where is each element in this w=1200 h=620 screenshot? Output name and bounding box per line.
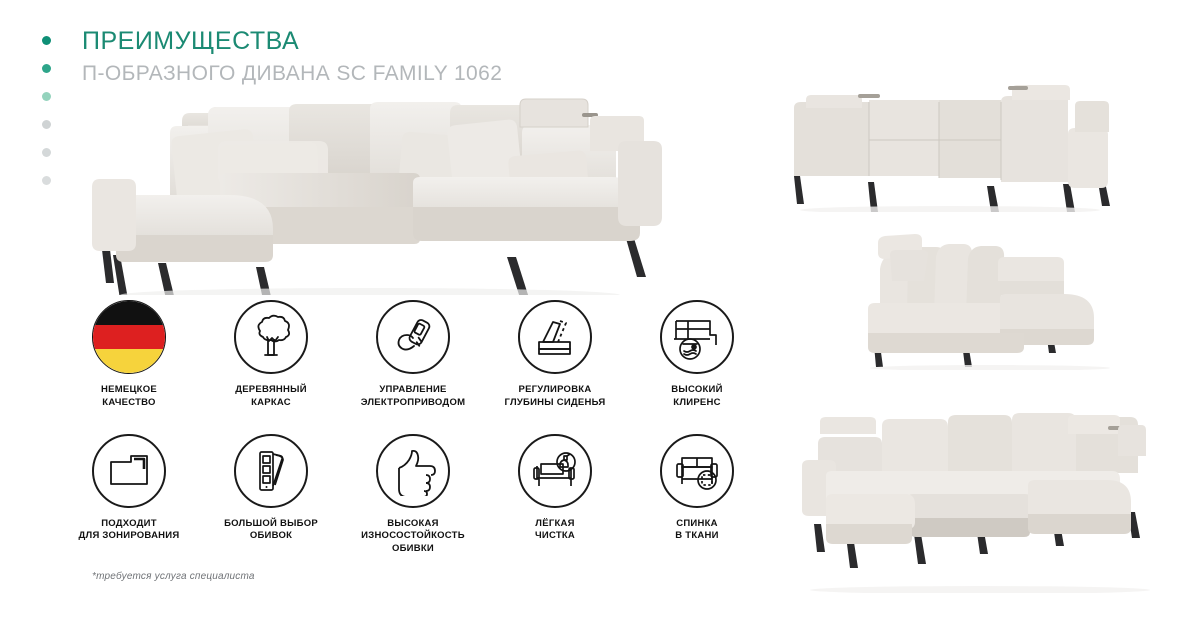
remote-control-icon — [376, 300, 450, 374]
product-image-hero — [70, 95, 690, 295]
label-line: В ТКАНИ — [629, 530, 765, 543]
advantages-page: ПРЕИМУЩЕСТВА П-ОБРАЗНОГО ДИВАНА SC FAMIL… — [0, 0, 1200, 620]
product-image-bed-view — [790, 408, 1175, 593]
footnote: *требуется услуга специалиста — [92, 571, 255, 582]
feature-easy-clean[interactable]: ЛЁГКАЯ ЧИСТКА — [484, 434, 626, 556]
feature-label: ДЕРЕВЯННЫЙ КАРКАС — [203, 384, 339, 410]
rail-dot — [42, 64, 51, 73]
feature-zoning[interactable]: ПОДХОДИТ ДЛЯ ЗОНИРОВАНИЯ — [58, 434, 200, 556]
label-line: ОБИВКИ — [345, 543, 481, 556]
decorative-dot-rail — [42, 36, 56, 204]
feature-wooden-frame[interactable]: ДЕРЕВЯННЫЙ КАРКАС — [200, 300, 342, 410]
fabric-swatch-icon — [234, 434, 308, 508]
feature-fabric-back[interactable]: СПИНКА В ТКАНИ — [626, 434, 768, 556]
feature-label: ВЫСОКИЙ КЛИРЕНС — [629, 384, 765, 410]
label-line: ИЗНОСОСТОЙКОСТЬ — [345, 530, 481, 543]
features-row-1: НЕМЕЦКОЕ КАЧЕСТВО ДЕРЕВЯННЫЙ КАРКАС — [58, 300, 768, 410]
label-line: ГЛУБИНЫ СИДЕНЬЯ — [487, 397, 623, 410]
label-line: ДЕРЕВЯННЫЙ — [203, 384, 339, 397]
rail-dot — [42, 36, 51, 45]
feature-label: СПИНКА В ТКАНИ — [629, 518, 765, 544]
rail-dot — [42, 176, 51, 185]
label-line: КАРКАС — [203, 397, 339, 410]
label-line: ВЫСОКИЙ — [629, 384, 765, 397]
rail-dot — [42, 120, 51, 129]
features-grid: НЕМЕЦКОЕ КАЧЕСТВО ДЕРЕВЯННЫЙ КАРКАС — [58, 300, 768, 556]
label-line: УПРАВЛЕНИЕ — [345, 384, 481, 397]
page-subtitle: П-ОБРАЗНОГО ДИВАНА SC FAMILY 1062 — [82, 62, 502, 86]
thumbs-up-icon — [376, 434, 450, 508]
clearance-icon — [660, 300, 734, 374]
zoning-icon — [92, 434, 166, 508]
german-flag-icon — [92, 300, 166, 374]
feature-seat-depth[interactable]: РЕГУЛИРОВКА ГЛУБИНЫ СИДЕНЬЯ — [484, 300, 626, 410]
feature-label: РЕГУЛИРОВКА ГЛУБИНЫ СИДЕНЬЯ — [487, 384, 623, 410]
feature-label: НЕМЕЦКОЕ КАЧЕСТВО — [61, 384, 197, 410]
feature-label: ВЫСОКАЯ ИЗНОСОСТОЙКОСТЬ ОБИВКИ — [345, 518, 481, 556]
feature-label: ПОДХОДИТ ДЛЯ ЗОНИРОВАНИЯ — [61, 518, 197, 544]
page-heading: ПРЕИМУЩЕСТВА П-ОБРАЗНОГО ДИВАНА SC FAMIL… — [82, 28, 502, 86]
feature-fabric-choice[interactable]: БОЛЬШОЙ ВЫБОР ОБИВОК — [200, 434, 342, 556]
feature-high-clearance[interactable]: ВЫСОКИЙ КЛИРЕНС — [626, 300, 768, 410]
feature-electric-control[interactable]: УПРАВЛЕНИЕ ЭЛЕКТРОПРИВОДОМ — [342, 300, 484, 410]
fabric-back-icon — [660, 434, 734, 508]
easy-clean-icon — [518, 434, 592, 508]
features-row-2: ПОДХОДИТ ДЛЯ ЗОНИРОВАНИЯ — [58, 434, 768, 556]
tree-icon — [234, 300, 308, 374]
product-image-side-view — [850, 225, 1125, 370]
feature-label: УПРАВЛЕНИЕ ЭЛЕКТРОПРИВОДОМ — [345, 384, 481, 410]
feature-german-quality[interactable]: НЕМЕЦКОЕ КАЧЕСТВО — [58, 300, 200, 410]
label-line: ЭЛЕКТРОПРИВОДОМ — [345, 397, 481, 410]
rail-dot — [42, 148, 51, 157]
label-line: ЛЁГКАЯ — [487, 518, 623, 531]
label-line: СПИНКА — [629, 518, 765, 531]
rail-dot — [42, 92, 51, 101]
seat-depth-icon — [518, 300, 592, 374]
label-line: КЛИРЕНС — [629, 397, 765, 410]
label-line: ПОДХОДИТ — [61, 518, 197, 531]
label-line: ДЛЯ ЗОНИРОВАНИЯ — [61, 530, 197, 543]
label-line: РЕГУЛИРОВКА — [487, 384, 623, 397]
page-title: ПРЕИМУЩЕСТВА — [82, 28, 502, 56]
label-line: БОЛЬШОЙ ВЫБОР — [203, 518, 339, 531]
label-line: ОБИВОК — [203, 530, 339, 543]
feature-durability[interactable]: ВЫСОКАЯ ИЗНОСОСТОЙКОСТЬ ОБИВКИ — [342, 434, 484, 556]
label-line: ВЫСОКАЯ — [345, 518, 481, 531]
feature-label: БОЛЬШОЙ ВЫБОР ОБИВОК — [203, 518, 339, 544]
label-line: НЕМЕЦКОЕ — [61, 384, 197, 397]
feature-label: ЛЁГКАЯ ЧИСТКА — [487, 518, 623, 544]
label-line: КАЧЕСТВО — [61, 397, 197, 410]
label-line: ЧИСТКА — [487, 530, 623, 543]
product-image-back-view — [780, 72, 1125, 212]
